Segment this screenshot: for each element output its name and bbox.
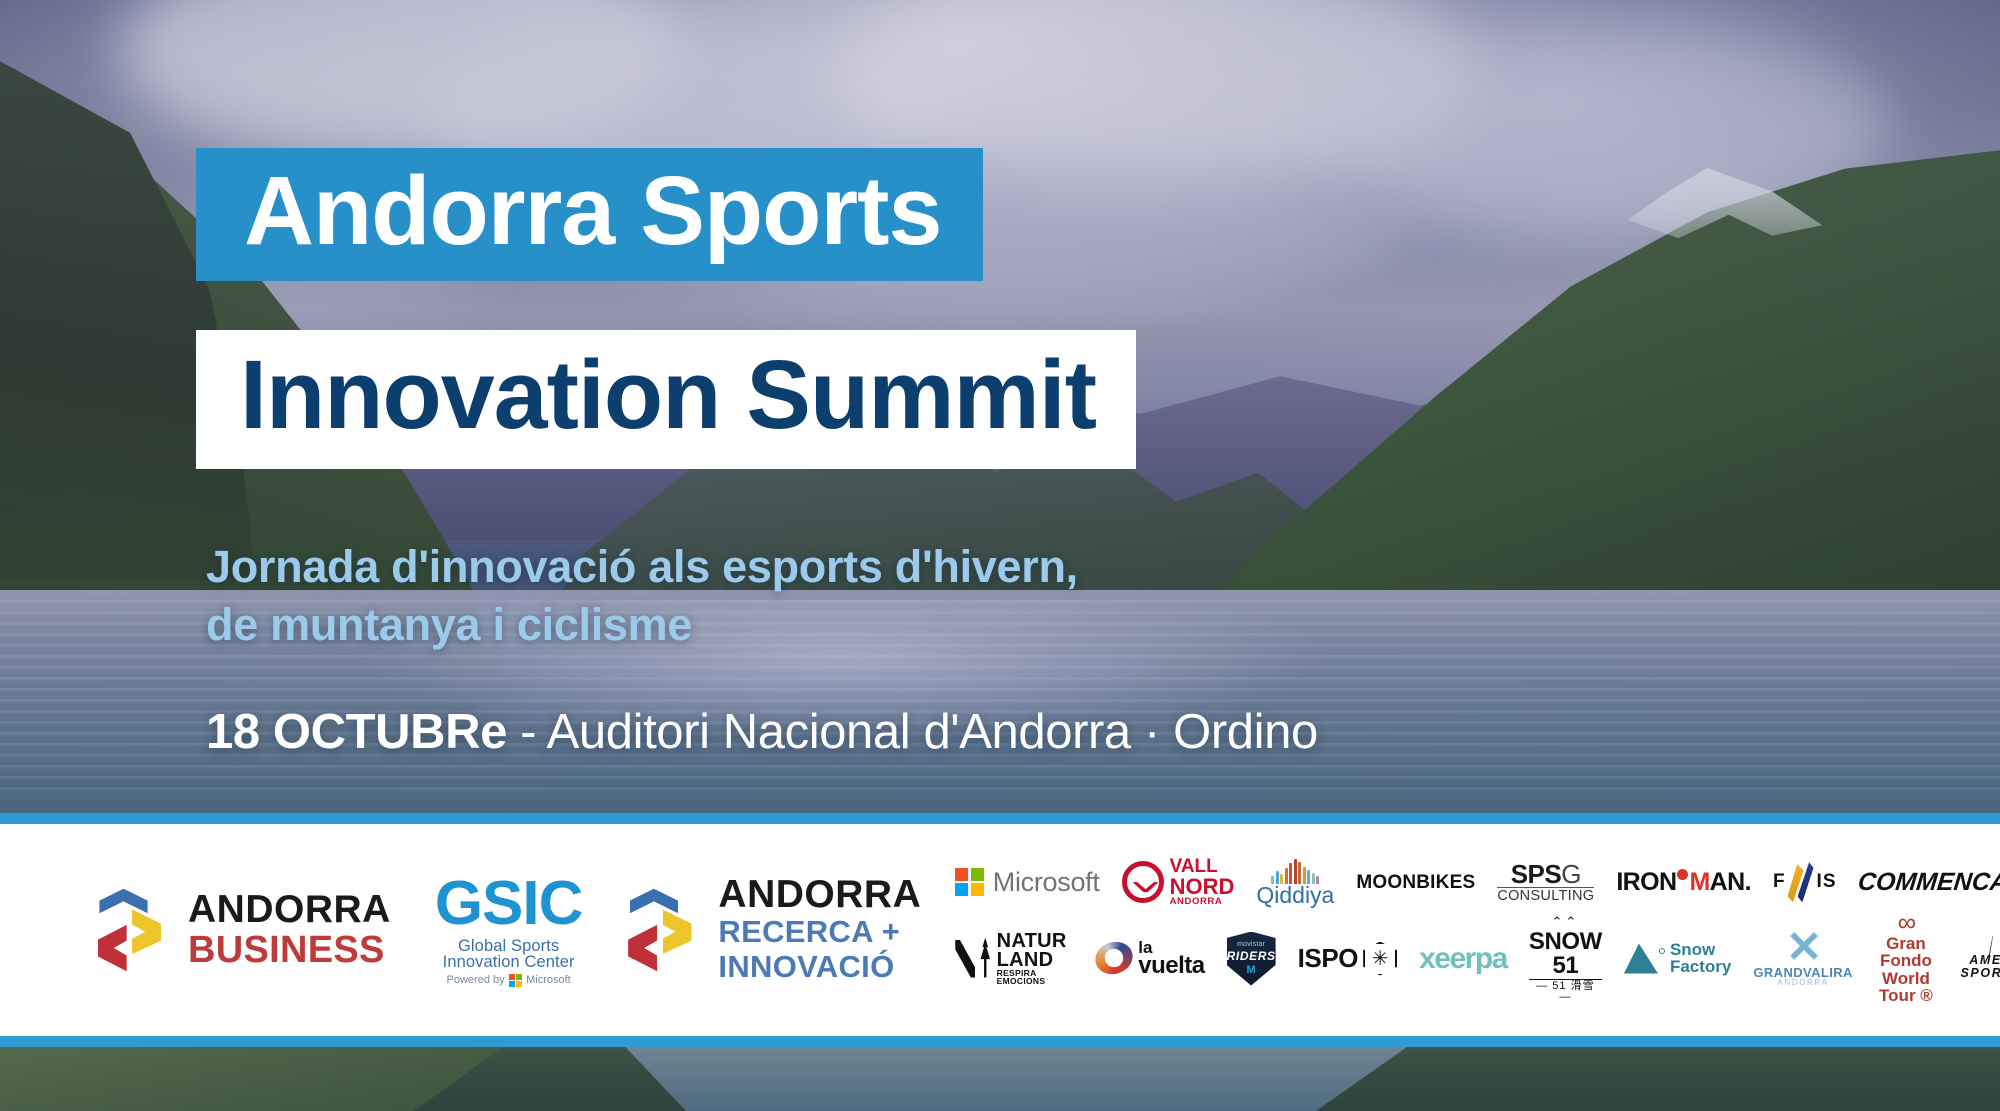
ispo-wordmark: ISPO xyxy=(1298,943,1359,974)
secondary-sponsor-grid: Microsoft VALL NORD ANDORRA xyxy=(955,856,2000,1005)
ironman-pre: IRON xyxy=(1616,868,1676,897)
granfondo-line2: World Tour ® xyxy=(1875,970,1937,1005)
sps-wordmark: SPS xyxy=(1511,859,1562,889)
fis-swoosh-icon xyxy=(1786,862,1816,902)
andorra-business-line2: BUSINESS xyxy=(188,931,391,970)
grandvalira-subtitle: ANDORRA xyxy=(1753,979,1853,987)
logo-fis[interactable]: F I S xyxy=(1773,862,1836,902)
sps-g-letter: G xyxy=(1561,859,1581,889)
andorra-hexagon-icon xyxy=(96,887,182,973)
gsic-subtitle: Global Sports Innovation Center xyxy=(435,938,583,971)
qiddiya-wordmark: Qiddiya xyxy=(1256,882,1334,908)
gsic-powered-brand: Microsoft xyxy=(526,975,571,986)
logo-ispo[interactable]: ISPO xyxy=(1298,942,1398,976)
natur-land-tree-icon xyxy=(955,938,990,980)
snowfactory-line1: Snow xyxy=(1670,942,1731,959)
ari-line1: ANDORRA xyxy=(718,875,921,915)
snow-factory-dot-icon xyxy=(1659,948,1665,954)
riders-label: RIDERS xyxy=(1227,949,1276,963)
title-band-primary: Andorra Sports xyxy=(196,148,983,281)
event-date-e-glyph: e xyxy=(480,705,507,759)
logo-xeerpa[interactable]: xeerpa xyxy=(1419,942,1507,976)
vallnord-circle-icon xyxy=(1122,861,1164,903)
gran-fondo-infinity-icon: ∞ xyxy=(1898,907,1915,937)
naturland-line1: NATUR xyxy=(997,932,1074,951)
andorra-hexagon-icon xyxy=(626,887,712,973)
divider-rule-top xyxy=(0,813,2000,824)
qiddiya-skyline-icon xyxy=(1256,858,1334,884)
sponsor-row-2: NATUR LAND RESPIRA EMOCIONS la vuelta mo… xyxy=(955,913,2000,1005)
microsoft-squares-icon xyxy=(509,974,523,988)
sponsor-row-1: Microsoft VALL NORD ANDORRA xyxy=(955,858,2000,907)
fis-f: F xyxy=(1773,871,1785,893)
ironman-m: M xyxy=(1689,868,1709,897)
primary-logo-group: ANDORRA BUSINESS GSIC Global Sports Inno… xyxy=(0,873,921,988)
microsoft-wordmark: Microsoft xyxy=(993,867,1100,898)
vallnord-line2: NORD xyxy=(1170,876,1235,897)
lavuelta-vuelta: vuelta xyxy=(1138,955,1204,977)
naturland-line3: RESPIRA EMOCIONS xyxy=(997,969,1074,985)
granfondo-line1: Gran Fondo xyxy=(1875,935,1937,970)
logo-commencal[interactable]: COMMENCAL xyxy=(1856,868,2000,897)
logo-gran-fondo-world-tour[interactable]: ∞ Gran Fondo World Tour ® xyxy=(1875,913,1937,1005)
logo-snow-factory[interactable]: Snow Factory xyxy=(1624,942,1731,975)
page-title-line1: Andorra Sports xyxy=(244,162,941,259)
logo-movistar-riders[interactable]: movistar RIDERS M xyxy=(1227,932,1276,986)
gsic-powered-by: Powered by Microsoft xyxy=(435,974,583,988)
logo-la-vuelta[interactable]: la vuelta xyxy=(1095,940,1204,978)
logo-snow-51[interactable]: ⌃⌃ SNOW 51 — 51 滑雪 — xyxy=(1529,914,1602,1003)
la-vuelta-swirl-icon xyxy=(1091,937,1137,979)
ari-line2: RECERCA + xyxy=(718,915,921,950)
event-date-venue: 18 OCTUBRe - Auditori Nacional d'Andorra… xyxy=(206,704,1318,760)
tagline-line-2: de muntanya i ciclisme xyxy=(206,596,1078,654)
fis-i: I xyxy=(1817,871,1822,893)
snowfactory-line2: Factory xyxy=(1670,959,1731,976)
logo-natur-land[interactable]: NATUR LAND RESPIRA EMOCIONS xyxy=(955,932,1073,986)
event-venue-suffix: - Auditori Nacional d'Andorra · Ordino xyxy=(507,705,1318,759)
andorra-business-line1: ANDORRA xyxy=(188,890,391,930)
logo-ironman[interactable]: IRONMAN. xyxy=(1616,868,1751,897)
divider-rule-bottom xyxy=(0,1036,2000,1047)
fis-s: S xyxy=(1823,871,1836,893)
movistar-m-icon: M xyxy=(1247,964,1256,976)
title-band-secondary: Innovation Summit xyxy=(196,330,1136,469)
amer-sports-wordmark: AMER SPORTS xyxy=(1959,954,2000,979)
logo-andorra-business[interactable]: ANDORRA BUSINESS xyxy=(96,887,391,973)
snow-factory-mountain-icon xyxy=(1624,944,1658,974)
tagline-line-1: Jornada d'innovació als esports d'hivern… xyxy=(206,538,1078,596)
gsic-powered-label: Powered by xyxy=(447,975,505,986)
ispo-snowflake-hexagon-icon xyxy=(1363,942,1397,976)
logo-moonbikes[interactable]: MOONBIKES xyxy=(1356,873,1475,892)
logo-microsoft[interactable]: Microsoft xyxy=(955,867,1099,898)
logo-qiddiya[interactable]: Qiddiya xyxy=(1256,858,1334,907)
logo-andorra-recerca-innovacio[interactable]: ANDORRA RECERCA + INNOVACIÓ xyxy=(626,875,921,985)
logo-gsic[interactable]: GSIC Global Sports Innovation Center Pow… xyxy=(435,873,583,988)
ironman-head-dot-icon xyxy=(1677,869,1688,880)
sponsor-bar: ANDORRA BUSINESS GSIC Global Sports Inno… xyxy=(0,824,2000,1036)
page-title-line2: Innovation Summit xyxy=(240,346,1096,443)
event-poster: Andorra Sports Innovation Summit Jornada… xyxy=(0,0,2000,1111)
sps-consulting-label: CONSULTING xyxy=(1497,887,1594,904)
ari-line3: INNOVACIÓ xyxy=(718,950,921,985)
ironman-post: AN. xyxy=(1710,868,1751,897)
gsic-wordmark: GSIC xyxy=(435,873,583,935)
logo-vallnord[interactable]: VALL NORD ANDORRA xyxy=(1122,858,1235,906)
logo-grandvalira[interactable]: ✕ GRANDVALIRA ANDORRA xyxy=(1753,930,1853,987)
logo-sps-consulting[interactable]: SPSG CONSULTING xyxy=(1497,861,1594,904)
snow51-wordmark: SNOW 51 xyxy=(1529,930,1602,978)
event-tagline: Jornada d'innovació als esports d'hivern… xyxy=(206,538,1078,653)
microsoft-squares-icon xyxy=(955,868,984,897)
event-date-prefix: 18 OCTUBR xyxy=(206,705,480,759)
naturland-line2: LAND xyxy=(997,951,1074,970)
moonbikes-wordmark: MOONBIKES xyxy=(1356,872,1475,893)
movistar-label: movistar xyxy=(1237,941,1265,948)
logo-amer-sports[interactable]: AMER SPORTS xyxy=(1959,938,2000,979)
snow51-chinese-label: — 51 滑雪 — xyxy=(1529,979,1602,1003)
snow51-peaks-icon: ⌃⌃ xyxy=(1552,914,1580,929)
